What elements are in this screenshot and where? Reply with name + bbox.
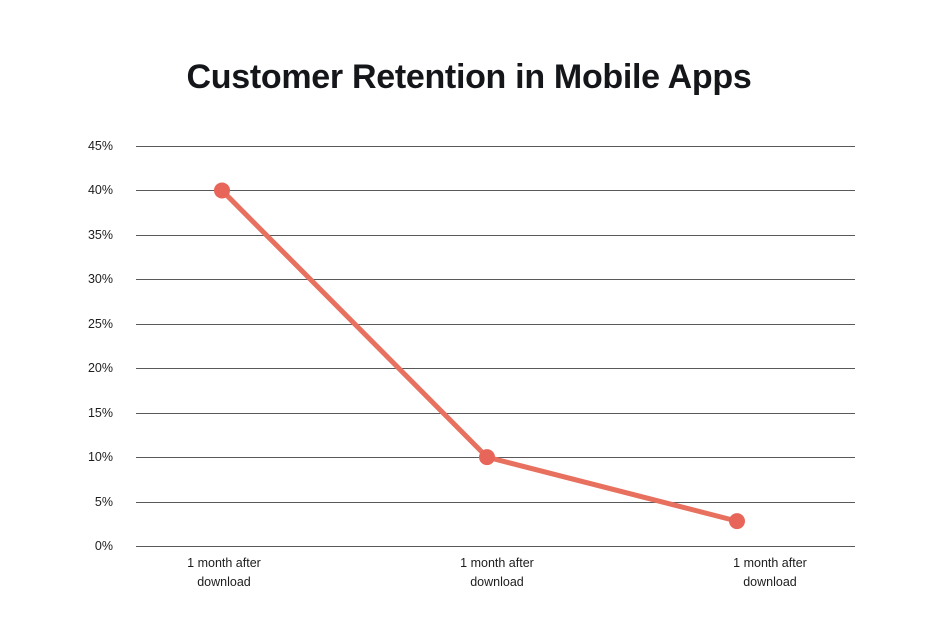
y-axis-tick-label: 25% (0, 317, 113, 331)
x-axis-tick-line1: 1 month after (392, 554, 602, 573)
chart-container: Customer Retention in Mobile Apps 45% 40… (0, 0, 938, 629)
chart-title: Customer Retention in Mobile Apps (0, 58, 938, 97)
data-point-marker (214, 182, 230, 198)
y-axis-tick-label: 10% (0, 450, 113, 464)
y-axis-tick-label: 20% (0, 361, 113, 375)
y-axis-tick-label: 30% (0, 272, 113, 286)
x-axis-tick-label: 1 month after download (665, 554, 875, 592)
data-point-marker (479, 449, 495, 465)
series-line (222, 190, 737, 521)
y-axis-tick-label: 35% (0, 228, 113, 242)
y-axis-tick-label: 0% (0, 539, 113, 553)
series-retention (136, 146, 855, 546)
y-axis-tick-label: 40% (0, 183, 113, 197)
x-axis-tick-line1: 1 month after (665, 554, 875, 573)
plot-area (136, 146, 855, 546)
x-axis-tick-label: 1 month after download (119, 554, 329, 592)
series-markers (214, 182, 745, 529)
gridline (136, 546, 855, 547)
x-axis-tick-line2: download (392, 573, 602, 592)
y-axis-tick-label: 15% (0, 406, 113, 420)
data-point-marker (729, 513, 745, 529)
x-axis-tick-line2: download (665, 573, 875, 592)
x-axis-tick-line2: download (119, 573, 329, 592)
x-axis-tick-line1: 1 month after (119, 554, 329, 573)
y-axis-tick-label: 5% (0, 495, 113, 509)
x-axis-tick-label: 1 month after download (392, 554, 602, 592)
y-axis-tick-label: 45% (0, 139, 113, 153)
